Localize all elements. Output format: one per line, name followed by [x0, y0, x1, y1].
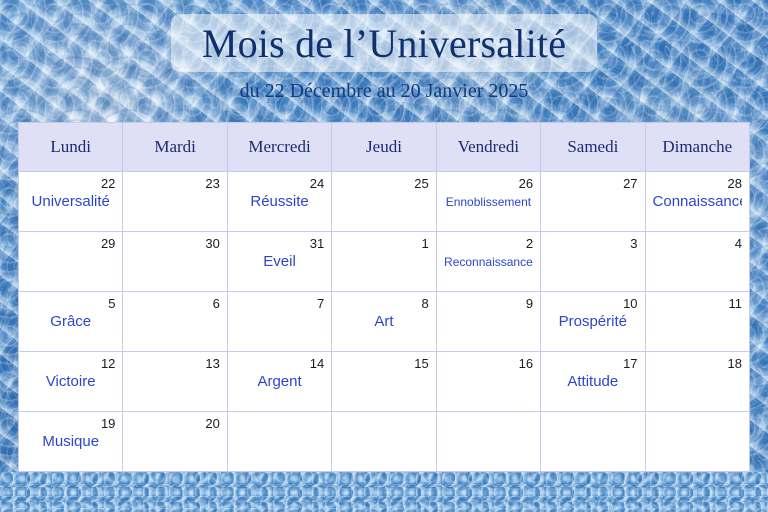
- calendar-day-cell[interactable]: 4: [645, 232, 749, 292]
- calendar-day-cell[interactable]: 13: [123, 352, 227, 412]
- day-event-label: Réussite: [235, 192, 324, 212]
- calendar-day-cell[interactable]: 9: [436, 292, 540, 352]
- day-cell-content: 12Victoire: [19, 352, 122, 411]
- day-cell-content: [437, 412, 540, 471]
- day-event-label: Reconnaissance: [444, 252, 533, 272]
- calendar-day-cell[interactable]: 30: [123, 232, 227, 292]
- calendar-week-row: 293031Eveil12Reconnaissance34: [19, 232, 750, 292]
- page-title: Mois de l’Universalité: [0, 20, 768, 68]
- calendar-day-cell[interactable]: 14Argent: [227, 352, 331, 412]
- calendar-day-cell[interactable]: 7: [227, 292, 331, 352]
- day-number: 16: [444, 356, 533, 371]
- weekday-header-row: Lundi Mardi Mercredi Jeudi Vendredi Same…: [19, 123, 750, 172]
- calendar-day-cell[interactable]: 15: [332, 352, 436, 412]
- day-number: 27: [548, 176, 637, 191]
- day-number: 7: [235, 296, 324, 311]
- day-cell-content: 18: [646, 352, 749, 411]
- day-number: 17: [548, 356, 637, 371]
- calendar-day-cell[interactable]: 2Reconnaissance: [436, 232, 540, 292]
- day-cell-content: 27: [541, 172, 644, 231]
- day-event-label: Art: [339, 312, 428, 332]
- weekday-header-samedi: Samedi: [541, 123, 645, 172]
- day-number: 12: [26, 356, 115, 371]
- weekday-header-mercredi: Mercredi: [227, 123, 331, 172]
- day-number: 15: [339, 356, 428, 371]
- calendar-day-cell[interactable]: 20: [123, 412, 227, 472]
- day-number: 29: [26, 236, 115, 251]
- calendar-day-cell[interactable]: 23: [123, 172, 227, 232]
- calendar-week-row: 5Grâce678Art910Prospérité11: [19, 292, 750, 352]
- calendar-day-cell[interactable]: 31Eveil: [227, 232, 331, 292]
- calendar-day-cell[interactable]: 8Art: [332, 292, 436, 352]
- day-cell-content: [228, 412, 331, 471]
- calendar-day-cell[interactable]: 17Attitude: [541, 352, 645, 412]
- day-cell-content: 31Eveil: [228, 232, 331, 291]
- day-number: 28: [653, 176, 742, 191]
- day-cell-content: 9: [437, 292, 540, 351]
- calendar-day-cell[interactable]: 11: [645, 292, 749, 352]
- day-number: 14: [235, 356, 324, 371]
- day-number: 5: [26, 296, 115, 311]
- calendar-day-cell[interactable]: 22Universalité: [19, 172, 123, 232]
- day-number: 18: [653, 356, 742, 371]
- day-cell-content: 19Musique: [19, 412, 122, 471]
- day-cell-content: 14Argent: [228, 352, 331, 411]
- day-cell-content: [646, 412, 749, 471]
- day-cell-content: 24Réussite: [228, 172, 331, 231]
- day-event-label: Connaissance: [653, 192, 742, 212]
- calendar-day-cell[interactable]: 3: [541, 232, 645, 292]
- day-number: 22: [26, 176, 115, 191]
- day-cell-content: [541, 412, 644, 471]
- day-cell-content: 6: [123, 292, 226, 351]
- day-cell-content: 29: [19, 232, 122, 291]
- calendar-day-cell[interactable]: 5Grâce: [19, 292, 123, 352]
- day-event-label: Eveil: [235, 252, 324, 272]
- day-cell-content: 4: [646, 232, 749, 291]
- calendar-day-cell[interactable]: [541, 412, 645, 472]
- calendar-day-cell[interactable]: 24Réussite: [227, 172, 331, 232]
- calendar-day-cell[interactable]: 18: [645, 352, 749, 412]
- day-cell-content: [332, 412, 435, 471]
- calendar-day-cell[interactable]: 16: [436, 352, 540, 412]
- calendar-day-cell[interactable]: 26Ennoblissement: [436, 172, 540, 232]
- day-event-label: Grâce: [26, 312, 115, 332]
- day-cell-content: 30: [123, 232, 226, 291]
- day-event-label: Argent: [235, 372, 324, 392]
- day-cell-content: 15: [332, 352, 435, 411]
- day-number: 3: [548, 236, 637, 251]
- day-cell-content: 23: [123, 172, 226, 231]
- day-event-label: Universalité: [26, 192, 115, 212]
- day-number: 10: [548, 296, 637, 311]
- day-cell-content: 20: [123, 412, 226, 471]
- day-cell-content: 16: [437, 352, 540, 411]
- day-cell-content: 11: [646, 292, 749, 351]
- calendar-week-row: 19Musique20: [19, 412, 750, 472]
- day-cell-content: 28Connaissance: [646, 172, 749, 231]
- day-cell-content: 8Art: [332, 292, 435, 351]
- day-cell-content: 26Ennoblissement: [437, 172, 540, 231]
- calendar-day-cell[interactable]: 27: [541, 172, 645, 232]
- frost-bottom-band: [0, 472, 768, 512]
- day-number: 20: [130, 416, 219, 431]
- day-cell-content: 5Grâce: [19, 292, 122, 351]
- day-number: 24: [235, 176, 324, 191]
- calendar-day-cell[interactable]: 12Victoire: [19, 352, 123, 412]
- day-number: 26: [444, 176, 533, 191]
- calendar-day-cell[interactable]: 28Connaissance: [645, 172, 749, 232]
- weekday-header-lundi: Lundi: [19, 123, 123, 172]
- day-number: 4: [653, 236, 742, 251]
- weekday-header-vendredi: Vendredi: [436, 123, 540, 172]
- calendar-day-cell[interactable]: [436, 412, 540, 472]
- day-number: 11: [653, 296, 742, 311]
- calendar-week-row: 12Victoire1314Argent151617Attitude18: [19, 352, 750, 412]
- day-number: 2: [444, 236, 533, 251]
- weekday-header-mardi: Mardi: [123, 123, 227, 172]
- day-number: 13: [130, 356, 219, 371]
- day-number: 23: [130, 176, 219, 191]
- day-number: 1: [339, 236, 428, 251]
- calendar-day-cell[interactable]: 1: [332, 232, 436, 292]
- calendar-day-cell[interactable]: 29: [19, 232, 123, 292]
- weekday-header-dimanche: Dimanche: [645, 123, 749, 172]
- calendar-week-row: 22Universalité2324Réussite2526Ennoblisse…: [19, 172, 750, 232]
- day-cell-content: 25: [332, 172, 435, 231]
- day-number: 30: [130, 236, 219, 251]
- calendar-day-cell[interactable]: 19Musique: [19, 412, 123, 472]
- day-number: 9: [444, 296, 533, 311]
- calendar-day-cell[interactable]: [332, 412, 436, 472]
- calendar-page: Mois de l’Universalité du 22 Décembre au…: [0, 0, 768, 512]
- calendar-day-cell[interactable]: 25: [332, 172, 436, 232]
- day-number: 25: [339, 176, 428, 191]
- day-cell-content: 13: [123, 352, 226, 411]
- weekday-header-jeudi: Jeudi: [332, 123, 436, 172]
- calendar-day-cell[interactable]: [227, 412, 331, 472]
- day-event-label: Prospérité: [548, 312, 637, 332]
- day-cell-content: 7: [228, 292, 331, 351]
- calendar-body: 22Universalité2324Réussite2526Ennoblisse…: [19, 172, 750, 472]
- day-number: 6: [130, 296, 219, 311]
- day-event-label: Victoire: [26, 372, 115, 392]
- calendar-day-cell[interactable]: [645, 412, 749, 472]
- day-number: 19: [26, 416, 115, 431]
- day-cell-content: 3: [541, 232, 644, 291]
- day-cell-content: 17Attitude: [541, 352, 644, 411]
- day-event-label: Ennoblissement: [444, 192, 533, 212]
- day-event-label: Attitude: [548, 372, 637, 392]
- day-number: 31: [235, 236, 324, 251]
- calendar-table: Lundi Mardi Mercredi Jeudi Vendredi Same…: [18, 122, 750, 472]
- day-event-label: Musique: [26, 432, 115, 452]
- day-cell-content: 10Prospérité: [541, 292, 644, 351]
- page-subtitle: du 22 Décembre au 20 Janvier 2025: [0, 79, 768, 103]
- calendar-day-cell[interactable]: 10Prospérité: [541, 292, 645, 352]
- day-cell-content: 22Universalité: [19, 172, 122, 231]
- day-number: 8: [339, 296, 428, 311]
- calendar-day-cell[interactable]: 6: [123, 292, 227, 352]
- day-cell-content: 2Reconnaissance: [437, 232, 540, 291]
- day-cell-content: 1: [332, 232, 435, 291]
